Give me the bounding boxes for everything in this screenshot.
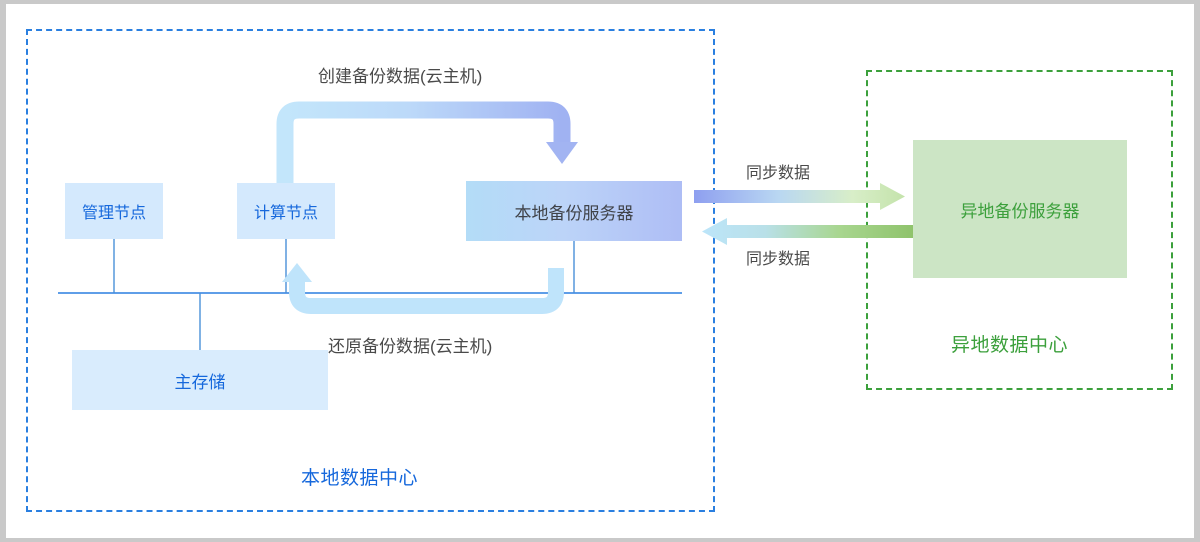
node-local-backup-server-label: 本地备份服务器	[515, 199, 634, 224]
flow-label-sync-out: 同步数据	[746, 159, 810, 183]
node-primary-storage[interactable]: 主存储	[72, 350, 328, 410]
node-management-label: 管理节点	[82, 199, 146, 223]
node-compute-label: 计算节点	[254, 199, 318, 223]
zone-label-local-data-center: 本地数据中心	[301, 463, 418, 490]
node-primary-storage-label: 主存储	[175, 368, 226, 393]
flow-label-create-backup: 创建备份数据(云主机)	[318, 62, 482, 87]
flow-label-sync-in: 同步数据	[746, 245, 810, 269]
node-remote-backup-server[interactable]: 异地备份服务器	[913, 140, 1127, 278]
node-local-backup-server[interactable]: 本地备份服务器	[466, 181, 682, 241]
node-compute[interactable]: 计算节点	[237, 183, 335, 239]
node-remote-backup-server-label: 异地备份服务器	[961, 197, 1080, 222]
zone-local-data-center	[26, 29, 715, 512]
node-management[interactable]: 管理节点	[65, 183, 163, 239]
zone-label-remote-data-center: 异地数据中心	[951, 330, 1068, 357]
diagram-canvas: 管理节点 计算节点 本地备份服务器 主存储 异地备份服务器 创建备份数据(云主机…	[0, 0, 1200, 542]
diagram-page: 管理节点 计算节点 本地备份服务器 主存储 异地备份服务器 创建备份数据(云主机…	[0, 0, 1200, 542]
flow-label-restore-backup: 还原备份数据(云主机)	[328, 332, 492, 357]
